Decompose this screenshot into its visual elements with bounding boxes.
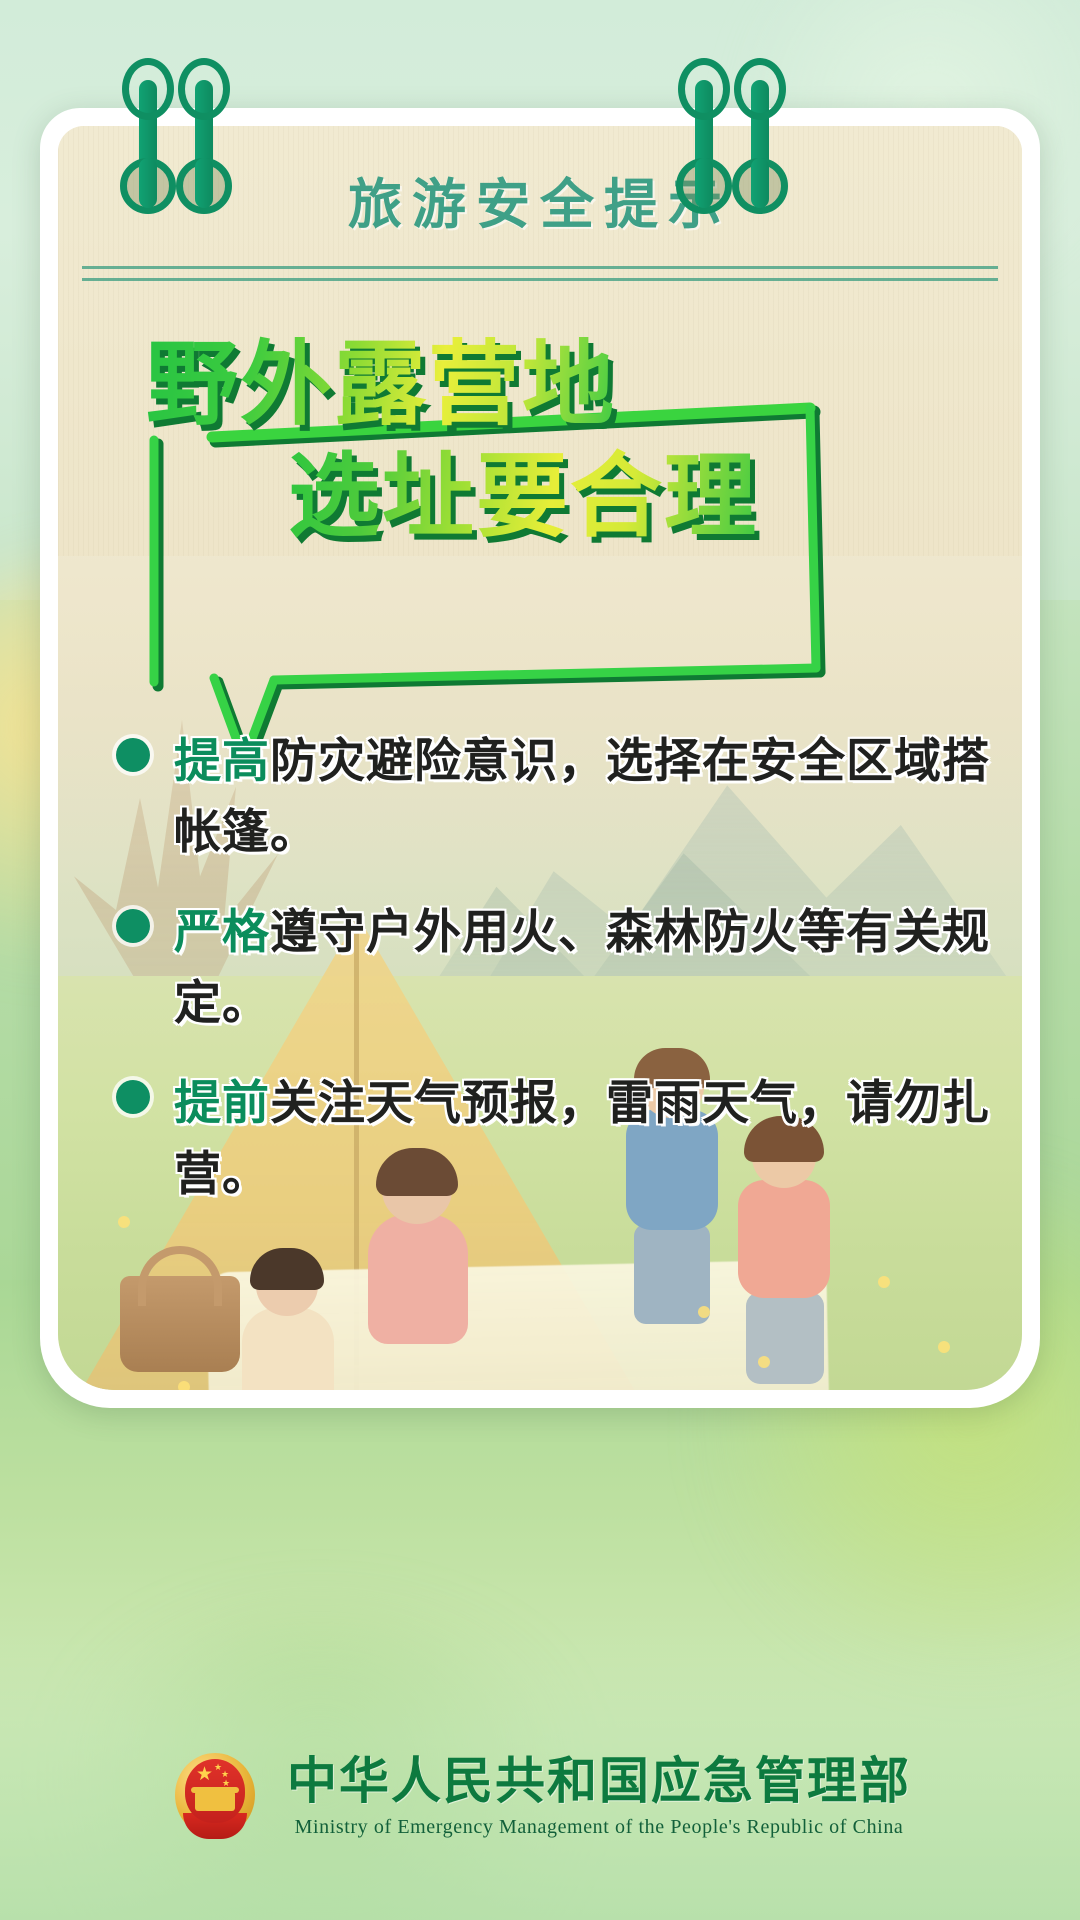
list-item-rest: 遵守户外用火、森林防火等有关规定。 [174, 905, 990, 1031]
page-title: 旅游安全提示 [58, 160, 1022, 239]
list-item-emphasis: 提高 [174, 734, 270, 789]
bullet-dot-icon [116, 1080, 150, 1114]
list-item-emphasis: 严格 [174, 905, 270, 960]
list-item-text: 提高防灾避险意识，选择在安全区域搭帐篷。 [174, 726, 996, 869]
list-item-rest: 防灾避险意识，选择在安全区域搭帐篷。 [174, 734, 990, 860]
list-item-text: 严格遵守户外用火、森林防火等有关规定。 [174, 897, 996, 1040]
footer-org-en: Ministry of Emergency Management of the … [287, 1816, 911, 1839]
list-item-emphasis: 提前 [174, 1076, 270, 1131]
headline-line-2: 选址要合理 [288, 448, 758, 546]
bullet-dot-icon [116, 738, 150, 772]
header-divider-top [82, 266, 998, 269]
card-header: 旅游安全提示 [58, 126, 1022, 296]
footer-text: 中华人民共和国应急管理部 Ministry of Emergency Manag… [287, 1755, 911, 1839]
list-item: 提前关注天气预报，雷雨天气，请勿扎营。 [116, 1068, 996, 1211]
footer-branding: ★ ★ ★ ★ ★ 中华人民共和国应急管理部 Ministry of Emerg… [0, 1732, 1080, 1862]
footer-org-cn: 中华人民共和国应急管理部 [287, 1755, 911, 1808]
list-item-rest: 关注天气预报，雷雨天气，请勿扎营。 [174, 1076, 990, 1202]
headline-line-1: 野外露营地 [146, 336, 616, 434]
tips-list: 提高防灾避险意识，选择在安全区域搭帐篷。 严格遵守户外用火、森林防火等有关规定。… [116, 726, 996, 1239]
bullet-dot-icon [116, 909, 150, 943]
list-item: 提高防灾避险意识，选择在安全区域搭帐篷。 [116, 726, 996, 869]
list-item: 严格遵守户外用火、森林防火等有关规定。 [116, 897, 996, 1040]
poster-card-inner: 旅游安全提示 [58, 126, 1022, 1390]
list-item-text: 提前关注天气预报，雷雨天气，请勿扎营。 [174, 1068, 996, 1211]
poster-card: 旅游安全提示 [40, 108, 1040, 1408]
national-emblem-icon: ★ ★ ★ ★ ★ [169, 1747, 261, 1847]
header-divider-bottom [82, 278, 998, 281]
